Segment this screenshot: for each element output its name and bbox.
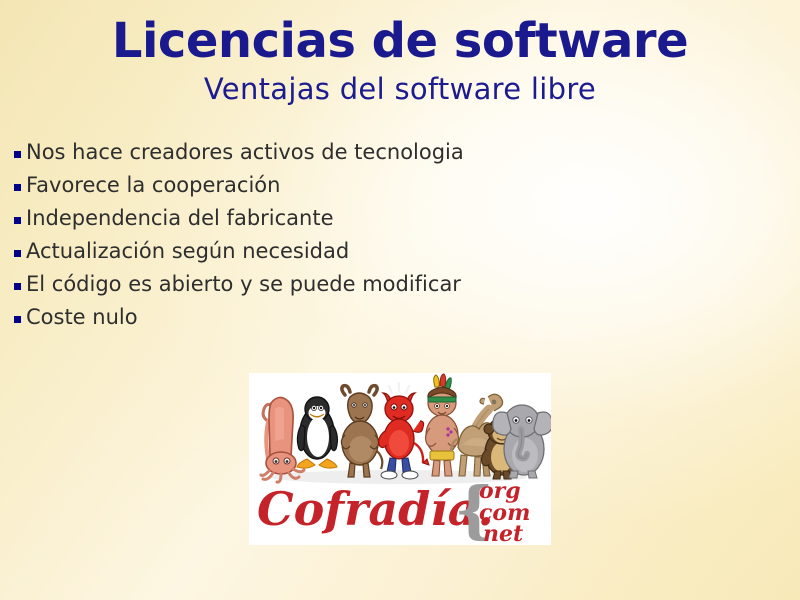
square-bullet-icon (14, 184, 21, 191)
list-item: Favorece la cooperación (14, 173, 714, 206)
bullet-list: Nos hace creadores activos de tecnologia… (14, 140, 714, 338)
list-item: Coste nulo (14, 305, 714, 338)
presentation-slide: Licencias de software Ventajas del softw… (0, 0, 800, 600)
square-bullet-icon (14, 151, 21, 158)
list-item: Independencia del fabricante (14, 206, 714, 239)
list-item-label: El código es abierto y se puede modifica… (26, 272, 461, 297)
list-item: El código es abierto y se puede modifica… (14, 272, 714, 305)
logo-tld-net: net (483, 521, 523, 545)
cofradia-logo-svg: Cofradía. { org com net (249, 373, 551, 545)
square-bullet-icon (14, 316, 21, 323)
list-item-label: Coste nulo (26, 305, 138, 330)
list-item-label: Actualización según necesidad (26, 239, 349, 264)
list-item-label: Nos hace creadores activos de tecnologia (26, 140, 464, 165)
cofradia-logo-image: Cofradía. { org com net (249, 373, 551, 545)
square-bullet-icon (14, 217, 21, 224)
square-bullet-icon (14, 250, 21, 257)
list-item-label: Independencia del fabricante (26, 206, 334, 231)
list-item-label: Favorece la cooperación (26, 173, 280, 198)
square-bullet-icon (14, 283, 21, 290)
slide-title-block: Licencias de software Ventajas del softw… (0, 14, 800, 106)
list-item: Nos hace creadores activos de tecnologia (14, 140, 714, 173)
list-item: Actualización según necesidad (14, 239, 714, 272)
page-title: Licencias de software (0, 14, 800, 68)
slide-subtitle: Ventajas del software libre (0, 72, 800, 106)
